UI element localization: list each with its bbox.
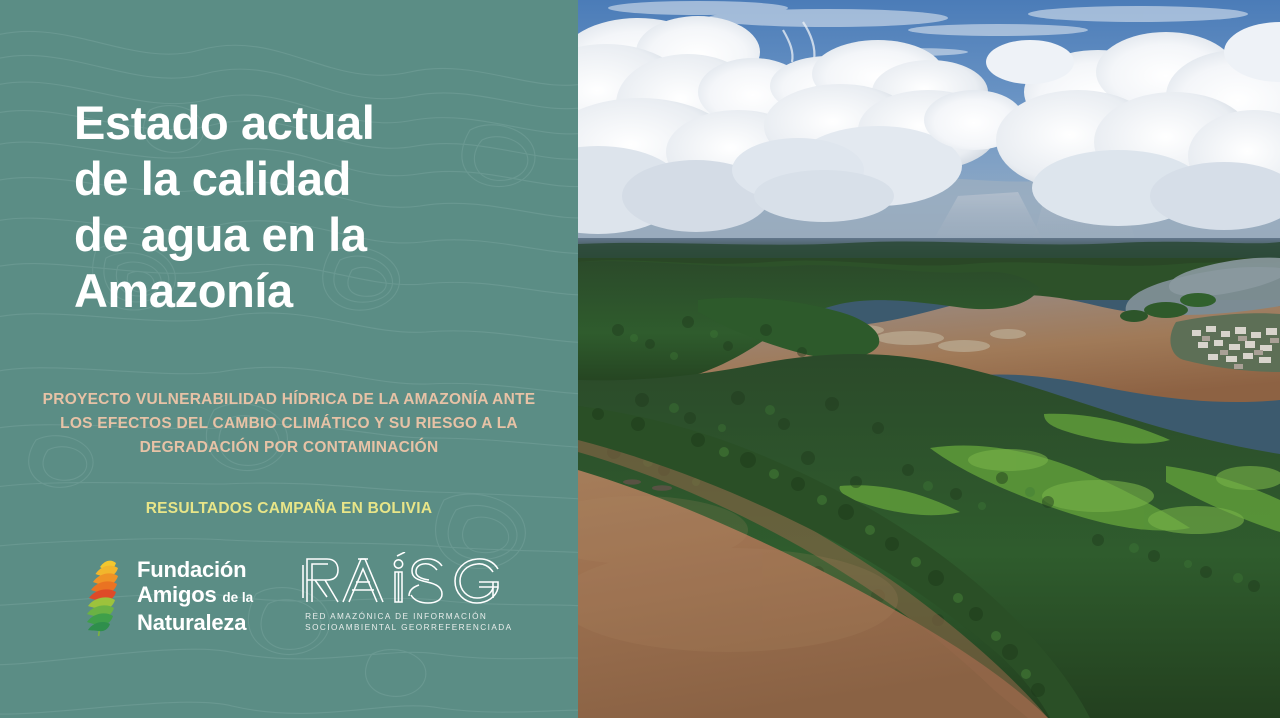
- page-title: Estado actual de la calidad de agua en l…: [74, 95, 544, 319]
- fan-wordmark: Fundación Amigos de la Naturaleza: [137, 557, 253, 635]
- raisg-wordmark-icon: [301, 552, 506, 606]
- logo-row: Fundación Amigos de la Naturaleza: [0, 552, 538, 640]
- feather-icon: [78, 552, 130, 640]
- fan-line-1: Fundación: [137, 557, 246, 582]
- logo-raisg[interactable]: RED AMAZÓNICA DE INFORMACIÓN SOCIOAMBIEN…: [301, 552, 516, 633]
- subtitle-block: PROYECTO VULNERABILIDAD HÍDRICA DE LA AM…: [40, 388, 538, 520]
- amazon-river-aerial-photo: [578, 0, 1280, 718]
- fan-line-3: Naturaleza: [137, 610, 253, 635]
- left-text-panel: Estado actual de la calidad de agua en l…: [0, 0, 578, 718]
- campaign-results-label: RESULTADOS CAMPAÑA EN BOLIVIA: [40, 498, 538, 520]
- title-slide: Estado actual de la calidad de agua en l…: [0, 0, 1280, 718]
- fan-line-2-small: de la: [222, 590, 253, 605]
- logo-fundacion-amigos-naturaleza[interactable]: Fundación Amigos de la Naturaleza: [78, 552, 253, 640]
- raisg-tagline: RED AMAZÓNICA DE INFORMACIÓN SOCIOAMBIEN…: [305, 611, 516, 633]
- project-subtitle: PROYECTO VULNERABILIDAD HÍDRICA DE LA AM…: [40, 388, 538, 460]
- fan-line-2: Amigos: [137, 582, 216, 607]
